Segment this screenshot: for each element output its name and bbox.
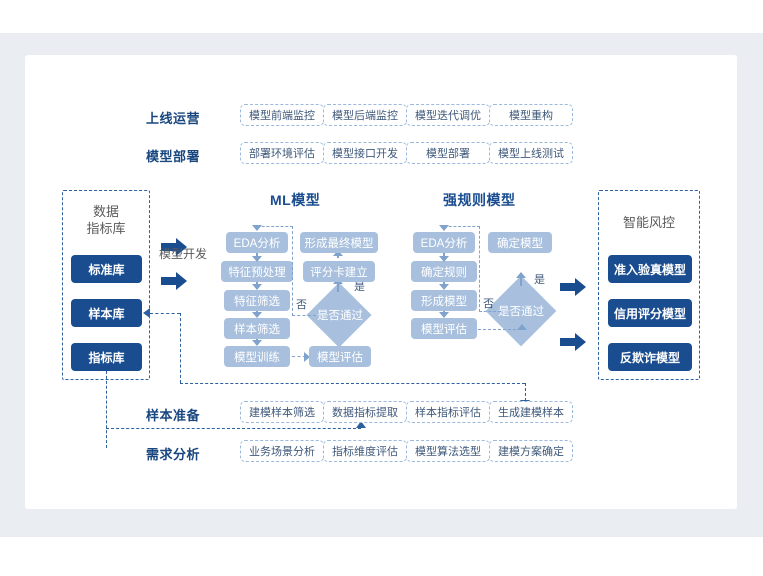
stage-item-model-launch-test[interactable]: 模型上线测试 bbox=[489, 142, 573, 164]
rule-connector-arrow-2 bbox=[439, 284, 449, 290]
rule-no-feedback-h1 bbox=[479, 311, 501, 312]
rule-eval-to-decision-h bbox=[478, 329, 521, 330]
rule-eval-to-decision-arrow bbox=[517, 324, 527, 330]
flow-title-rule-model: 强规则模型 bbox=[443, 190, 516, 210]
arrow-to-risk-control-top bbox=[560, 278, 586, 296]
sample-library-feedback-h2 bbox=[180, 383, 525, 384]
data-library-indicator[interactable]: 指标库 bbox=[71, 343, 142, 371]
left-panel-title: 数据 指标库 bbox=[62, 203, 150, 237]
stage-item-modeling-sample-selection[interactable]: 建模样本筛选 bbox=[240, 401, 324, 423]
ml-step-feature-preprocessing[interactable]: 特征预处理 bbox=[221, 261, 293, 282]
rule-decision-to-final-line bbox=[520, 277, 522, 286]
stage-item-model-deploy[interactable]: 模型部署 bbox=[406, 142, 490, 164]
rule-step-model-evaluation[interactable]: 模型评估 bbox=[411, 318, 477, 339]
rule-decision-no-label: 否 bbox=[483, 295, 494, 311]
ml-step-model-training[interactable]: 模型训练 bbox=[224, 346, 290, 367]
ml-connector-arrow-4 bbox=[252, 340, 262, 346]
stage-item-modeling-plan-confirmation[interactable]: 建模方案确定 bbox=[489, 440, 573, 462]
arrow-to-risk-control-bottom bbox=[560, 333, 586, 351]
stage-item-sample-indicator-assessment[interactable]: 样本指标评估 bbox=[406, 401, 490, 423]
rule-step-define-rules[interactable]: 确定规则 bbox=[411, 261, 477, 282]
ml-connector-arrow-3 bbox=[252, 312, 262, 318]
row-label-online-operation: 上线运营 bbox=[120, 108, 200, 127]
data-library-standard[interactable]: 标准库 bbox=[71, 255, 142, 283]
diagram-canvas: 上线运营 模型前端监控 模型后端监控 模型迭代调优 模型重构 模型部署 部署环境… bbox=[0, 0, 763, 576]
ml-decision-no-label: 否 bbox=[296, 296, 307, 312]
ml-step-final-model[interactable]: 形成最终模型 bbox=[300, 232, 378, 253]
sample-library-feedback-arrow bbox=[143, 308, 150, 318]
row-label-requirement-analysis: 需求分析 bbox=[120, 444, 200, 463]
ml-no-feedback-h1 bbox=[292, 315, 316, 316]
rule-no-feedback-h2 bbox=[444, 226, 480, 227]
rule-step-eda-analysis[interactable]: EDA分析 bbox=[413, 232, 475, 253]
stage-item-data-indicator-extraction[interactable]: 数据指标提取 bbox=[323, 401, 407, 423]
ml-step-sample-selection[interactable]: 样本筛选 bbox=[224, 318, 290, 339]
right-panel-title: 智能风控 bbox=[598, 214, 700, 231]
stage-item-business-scenario-analysis[interactable]: 业务场景分析 bbox=[240, 440, 324, 462]
ml-step-model-evaluation[interactable]: 模型评估 bbox=[309, 346, 371, 367]
data-library-sample[interactable]: 样本库 bbox=[71, 299, 142, 327]
sample-library-feedback-v2 bbox=[525, 383, 526, 401]
rule-decision-yes-label: 是 bbox=[534, 271, 545, 287]
ml-no-feedback-v bbox=[292, 226, 293, 316]
ml-step-scorecard-build[interactable]: 评分卡建立 bbox=[303, 261, 375, 282]
ml-step-feature-selection[interactable]: 特征筛选 bbox=[224, 290, 290, 311]
mid-label-model-development: 模型开发 bbox=[159, 245, 207, 262]
stage-item-model-api-development[interactable]: 模型接口开发 bbox=[323, 142, 407, 164]
indicator-library-out-v bbox=[106, 371, 107, 448]
rule-connector-arrow-3 bbox=[439, 312, 449, 318]
stage-item-model-frontend-monitor[interactable]: 模型前端监控 bbox=[240, 104, 324, 126]
arrow-model-development-bottom bbox=[161, 272, 187, 290]
rule-connector-arrow-1 bbox=[439, 256, 449, 262]
flow-title-ml-model: ML模型 bbox=[270, 190, 320, 210]
stage-item-model-backend-monitor[interactable]: 模型后端监控 bbox=[323, 104, 407, 126]
ml-step-eda-analysis[interactable]: EDA分析 bbox=[226, 232, 288, 253]
rule-no-feedback-arrow bbox=[439, 225, 449, 231]
row-label-sample-preparation: 样本准备 bbox=[120, 405, 200, 424]
ml-no-feedback-arrow bbox=[252, 225, 262, 231]
rule-step-form-model[interactable]: 形成模型 bbox=[411, 290, 477, 311]
stage-item-model-refactor[interactable]: 模型重构 bbox=[489, 104, 573, 126]
stage-item-model-iteration-tuning[interactable]: 模型迭代调优 bbox=[406, 104, 490, 126]
stage-item-model-algorithm-selection[interactable]: 模型算法选型 bbox=[406, 440, 490, 462]
risk-model-anti-fraud[interactable]: 反欺诈模型 bbox=[608, 343, 692, 371]
ml-decision-to-scorecard-line bbox=[337, 283, 339, 292]
row-label-model-deployment: 模型部署 bbox=[120, 146, 200, 165]
sample-library-feedback-h bbox=[150, 313, 180, 314]
stage-item-deploy-env-assessment[interactable]: 部署环境评估 bbox=[240, 142, 324, 164]
rule-no-feedback-v bbox=[479, 226, 480, 312]
ml-decision-label: 是否通过 bbox=[309, 307, 371, 323]
risk-model-credit-scoring[interactable]: 信用评分模型 bbox=[608, 299, 692, 327]
rule-decision-to-final-arrow bbox=[516, 272, 526, 278]
ml-connector-arrow-1 bbox=[252, 256, 262, 262]
ml-connector-arrow-2 bbox=[252, 284, 262, 290]
rule-step-confirm-model[interactable]: 确定模型 bbox=[488, 232, 552, 253]
sample-library-feedback-v bbox=[180, 313, 181, 383]
ml-no-feedback-h2 bbox=[257, 226, 293, 227]
stage-item-indicator-dimension-assessment[interactable]: 指标维度评估 bbox=[323, 440, 407, 462]
risk-model-admission-verification[interactable]: 准入验真模型 bbox=[608, 255, 692, 283]
indicator-library-out-h bbox=[106, 428, 361, 429]
stage-item-generate-modeling-sample[interactable]: 生成建模样本 bbox=[489, 401, 573, 423]
